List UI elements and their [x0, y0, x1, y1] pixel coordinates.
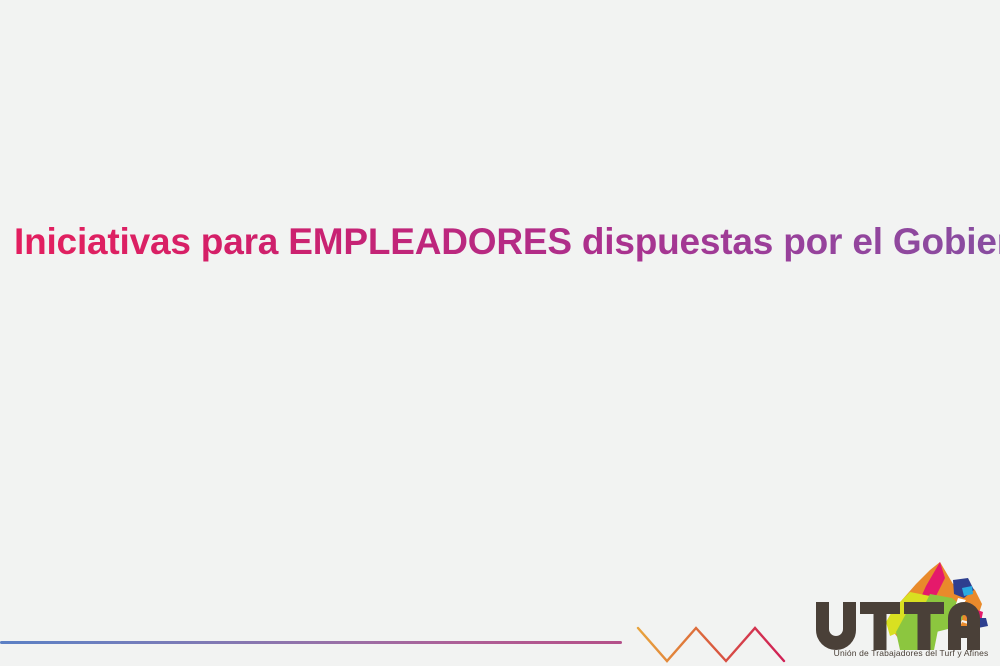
utta-logo-tagline: Unión de Trabajadores del Turf y Afines: [822, 648, 1000, 659]
page-title: Iniciativas para EMPLEADORES dispuestas …: [0, 220, 1000, 264]
utta-logo-mark: [812, 556, 1000, 650]
utta-logo: Unión de Trabajadores del Turf y Afines: [812, 556, 1000, 666]
title-container: Iniciativas para EMPLEADORES dispuestas …: [0, 216, 1000, 268]
presentation-slide: Iniciativas para EMPLEADORES dispuestas …: [0, 0, 1000, 666]
zigzag-decoration: [630, 612, 802, 666]
footer-gradient-rule: [0, 641, 622, 644]
zigzag-path: [638, 628, 784, 661]
